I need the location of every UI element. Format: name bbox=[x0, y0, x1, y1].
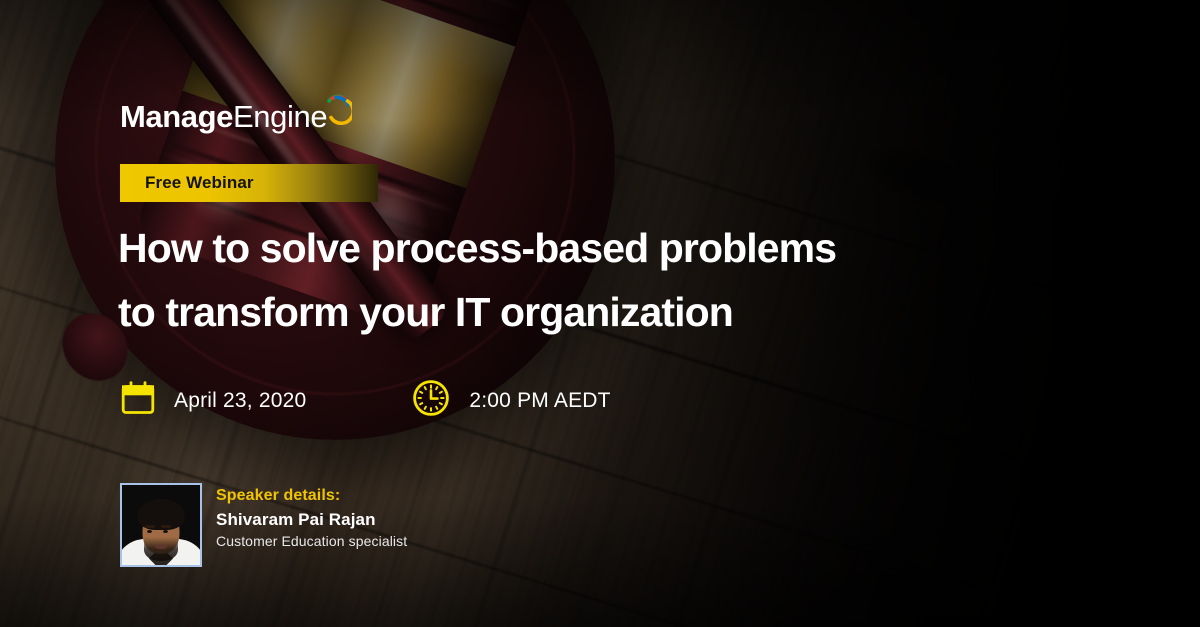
webinar-time: 2:00 PM AEDT bbox=[411, 378, 610, 423]
calendar-icon bbox=[120, 380, 156, 421]
webinar-date-text: April 23, 2020 bbox=[174, 389, 306, 413]
portrait-eye-right bbox=[163, 530, 168, 533]
portrait-eyebrow-left bbox=[145, 525, 155, 528]
webinar-date: April 23, 2020 bbox=[120, 380, 306, 421]
speaker-details-heading: Speaker details: bbox=[216, 487, 407, 505]
title-line-2: to transform your IT organization bbox=[118, 280, 1118, 344]
schedule-row: April 23, 2020 bbox=[120, 378, 611, 423]
speaker-details: Speaker details: Shivaram Pai Rajan Cust… bbox=[120, 483, 407, 567]
page-title: How to solve process-based problems to t… bbox=[118, 216, 1118, 344]
free-webinar-label: Free Webinar bbox=[145, 173, 254, 193]
logo-manage-text: Manage bbox=[120, 99, 233, 134]
clock-icon bbox=[411, 378, 451, 423]
speaker-info: Speaker details: Shivaram Pai Rajan Cust… bbox=[216, 483, 407, 549]
free-webinar-badge: Free Webinar bbox=[120, 164, 378, 202]
manageengine-logo[interactable]: ManageEngine bbox=[120, 96, 352, 136]
speaker-name: Shivaram Pai Rajan bbox=[216, 510, 407, 530]
manageengine-swoosh-icon bbox=[322, 92, 352, 131]
logo-engine-text: Engine bbox=[233, 99, 327, 134]
portrait-eyebrow-right bbox=[161, 525, 171, 528]
speaker-photo bbox=[120, 483, 202, 567]
portrait-beard bbox=[144, 537, 178, 561]
speaker-role: Customer Education specialist bbox=[216, 533, 407, 549]
webinar-time-text: 2:00 PM AEDT bbox=[469, 389, 610, 413]
webinar-banner: ManageEngine Free Webinar How to solve p… bbox=[0, 0, 1200, 627]
portrait-mouth bbox=[155, 545, 168, 549]
title-line-1: How to solve process-based problems bbox=[118, 216, 1118, 280]
portrait-eye-left bbox=[147, 530, 152, 533]
